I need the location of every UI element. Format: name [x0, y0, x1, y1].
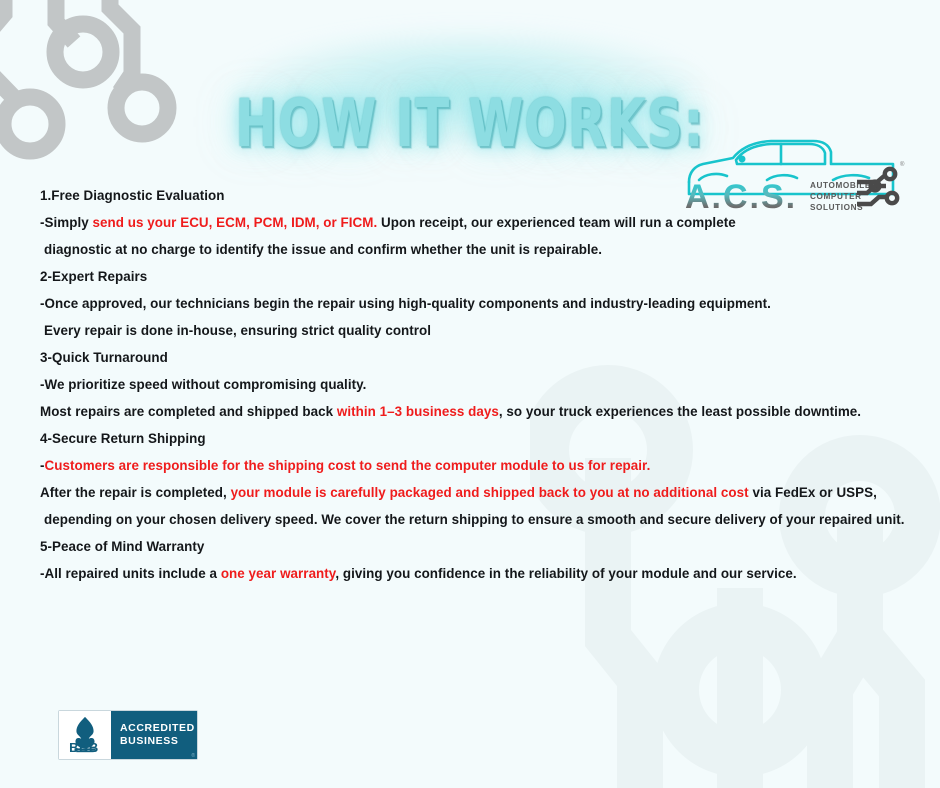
body-text: diagnostic at no charge to identify the … [44, 242, 602, 257]
step-body-line: -Once approved, our technicians begin th… [40, 290, 910, 317]
how-it-works-page: HOW IT WORKS: ® A.C.S. AUTO [0, 0, 940, 788]
step-body-line: Most repairs are completed and shipped b… [40, 398, 910, 425]
bbb-line-accredited: ACCREDITED [120, 722, 195, 735]
step-heading: 4-Secure Return Shipping [40, 425, 910, 452]
body-text: depending on your chosen delivery speed.… [44, 512, 905, 527]
body-text: -We prioritize speed without compromisin… [40, 377, 366, 392]
body-text: -Simply [40, 215, 93, 230]
page-title: HOW IT WORKS: [235, 88, 704, 160]
page-title-wrapper: HOW IT WORKS: [0, 44, 940, 134]
body-text: , giving you confidence in the reliabili… [335, 566, 796, 581]
step-heading: 2-Expert Repairs [40, 263, 910, 290]
steps-content: 1.Free Diagnostic Evaluation-Simply send… [40, 182, 910, 587]
step-body-line: depending on your chosen delivery speed.… [40, 506, 910, 533]
body-text: Most repairs are completed and shipped b… [40, 404, 337, 419]
step-body-line: -Customers are responsible for the shipp… [40, 452, 910, 479]
highlight-text: Customers are responsible for the shippi… [45, 458, 651, 473]
step-heading: 5-Peace of Mind Warranty [40, 533, 910, 560]
step-body-line: -All repaired units include a one year w… [40, 560, 910, 587]
highlight-text: send us your ECU, ECM, PCM, IDM, or FICM… [93, 215, 378, 230]
bbb-mark-text: BBB [62, 740, 106, 755]
step-body-line: diagnostic at no charge to identify the … [40, 236, 910, 263]
body-text: -All repaired units include a [40, 566, 221, 581]
step-body-line: Every repair is done in-house, ensuring … [40, 317, 910, 344]
logo-registered-mark: ® [900, 161, 905, 168]
body-text: Upon receipt, our experienced team will … [377, 215, 735, 230]
bbb-line-business: BUSINESS [120, 735, 178, 748]
step-heading: 3-Quick Turnaround [40, 344, 910, 371]
bbb-text-panel: ACCREDITED BUSINESS ® [111, 711, 197, 759]
body-text: Every repair is done in-house, ensuring … [44, 323, 431, 338]
body-text: -Once approved, our technicians begin th… [40, 296, 771, 311]
highlight-text: one year warranty [221, 566, 335, 581]
highlight-text: your module is carefully packaged and sh… [231, 485, 749, 500]
step-body-line: -Simply send us your ECU, ECM, PCM, IDM,… [40, 209, 910, 236]
body-text: After the repair is completed, [40, 485, 231, 500]
bbb-registered-mark: ® [191, 753, 195, 759]
body-text: , so your truck experiences the least po… [499, 404, 861, 419]
highlight-text: within 1–3 business days [337, 404, 499, 419]
step-heading: 1.Free Diagnostic Evaluation [40, 182, 910, 209]
step-body-line: -We prioritize speed without compromisin… [40, 371, 910, 398]
body-text: via FedEx or USPS, [749, 485, 877, 500]
step-body-line: After the repair is completed, your modu… [40, 479, 910, 506]
